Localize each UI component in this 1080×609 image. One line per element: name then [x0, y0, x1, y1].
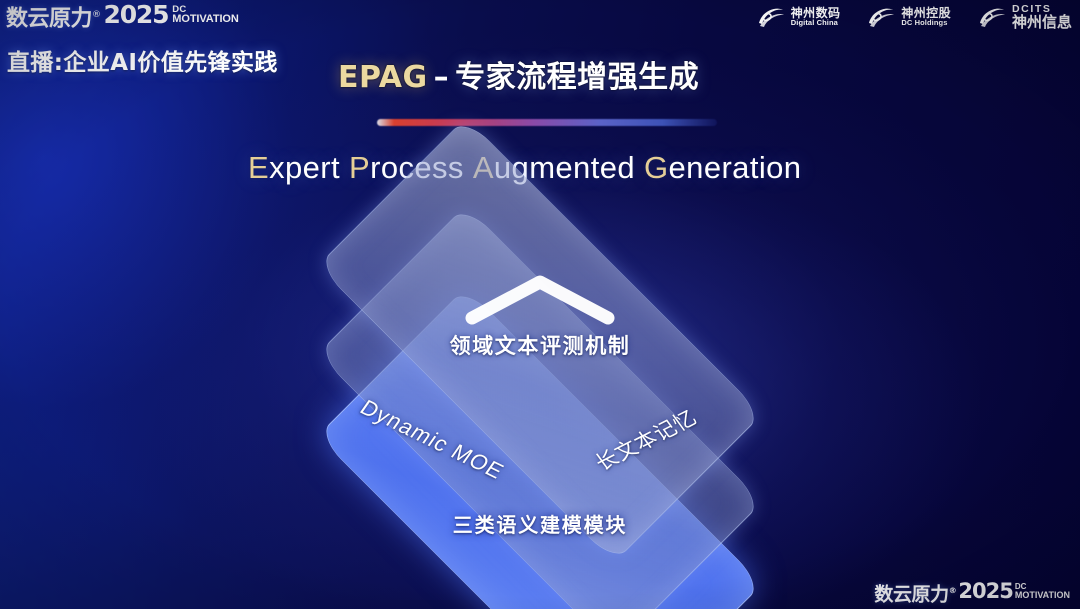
swoosh-logo-icon	[977, 5, 1007, 29]
partner-logo-text: DCITS 神州信息	[1012, 4, 1072, 30]
brand-name-cn: 数云原力®	[6, 2, 101, 32]
partner-logo-text: 神州控股 DC Holdings	[901, 7, 951, 27]
diagram-layer-middle	[317, 205, 762, 609]
subtitle-cap-p: P	[349, 150, 370, 185]
swoosh-logo-icon	[756, 5, 786, 29]
diagram-layer-bottom	[317, 287, 762, 609]
live-broadcast-label: 直播:企业AI价值先锋实践	[7, 43, 278, 77]
brand-dc-motivation: DC MOTIVATION	[172, 5, 238, 24]
diagram-layer-top-label: 领域文本评测机制	[0, 330, 1080, 360]
diagram-layer-middle-label-left: Dynamic MOE	[355, 395, 509, 485]
gradient-divider	[377, 119, 717, 126]
title-acronym: EPAG	[338, 60, 428, 95]
subtitle-rest-expert: xpert	[269, 150, 340, 185]
slide-title: EPAG–专家流程增强生成	[338, 52, 699, 96]
chevron-up-icon	[462, 272, 618, 328]
brand-year: 2025	[104, 2, 169, 28]
partner-logo-group: 神州数码 Digital China 神州控股 DC Holdings	[756, 4, 1072, 30]
diagram-layer-bottom-surface	[317, 287, 762, 609]
subtitle-rest-process: rocess	[370, 150, 464, 185]
brand-dc-line2: MOTIVATION	[172, 15, 238, 25]
brand-watermark-bottom-right: 数云原力® 2025 DC MOTIVATION	[874, 580, 1070, 605]
watermark-year: 2025	[958, 580, 1012, 602]
title-dash: –	[428, 60, 456, 95]
partner-logo-dc-holdings: 神州控股 DC Holdings	[866, 5, 951, 29]
slide-subtitle: Expert Process Augmented Generation	[248, 150, 801, 186]
diagram-layer-middle-label-right: 长文本记忆	[588, 403, 703, 477]
watermark-registered-mark: ®	[949, 586, 957, 595]
watermark-name-cn: 数云原力®	[874, 580, 956, 605]
partner-logo-digital-china: 神州数码 Digital China	[756, 5, 841, 29]
partner-name-en: DC Holdings	[901, 19, 951, 27]
partner-name-cn: 神州信息	[1012, 15, 1072, 30]
brand-logo-top-left: 数云原力® 2025 DC MOTIVATION	[6, 2, 239, 32]
diagram-layer-middle-surface	[317, 205, 762, 609]
slide-stage: 数云原力® 2025 DC MOTIVATION 直播:企业AI价值先锋实践 神…	[0, 0, 1080, 609]
subtitle-cap-a: A	[473, 150, 494, 185]
watermark-dc-motivation: DC MOTIVATION	[1015, 583, 1070, 599]
subtitle-cap-e: E	[248, 150, 269, 185]
subtitle-rest-augmented: ugmented	[494, 150, 635, 185]
center-glow	[160, 170, 980, 600]
diagram-layer-bottom-label: 三类语义建模模块	[0, 509, 1080, 538]
swoosh-logo-icon	[866, 5, 896, 29]
registered-mark: ®	[92, 10, 101, 20]
title-chinese: 专家流程增强生成	[455, 60, 699, 95]
partner-name-en: Digital China	[791, 19, 841, 27]
watermark-dc-line2: MOTIVATION	[1015, 591, 1070, 599]
partner-logo-text: 神州数码 Digital China	[791, 7, 841, 27]
partner-logo-dcits: DCITS 神州信息	[977, 4, 1072, 30]
subtitle-cap-g: G	[644, 150, 669, 185]
subtitle-rest-generation: eneration	[669, 150, 802, 185]
